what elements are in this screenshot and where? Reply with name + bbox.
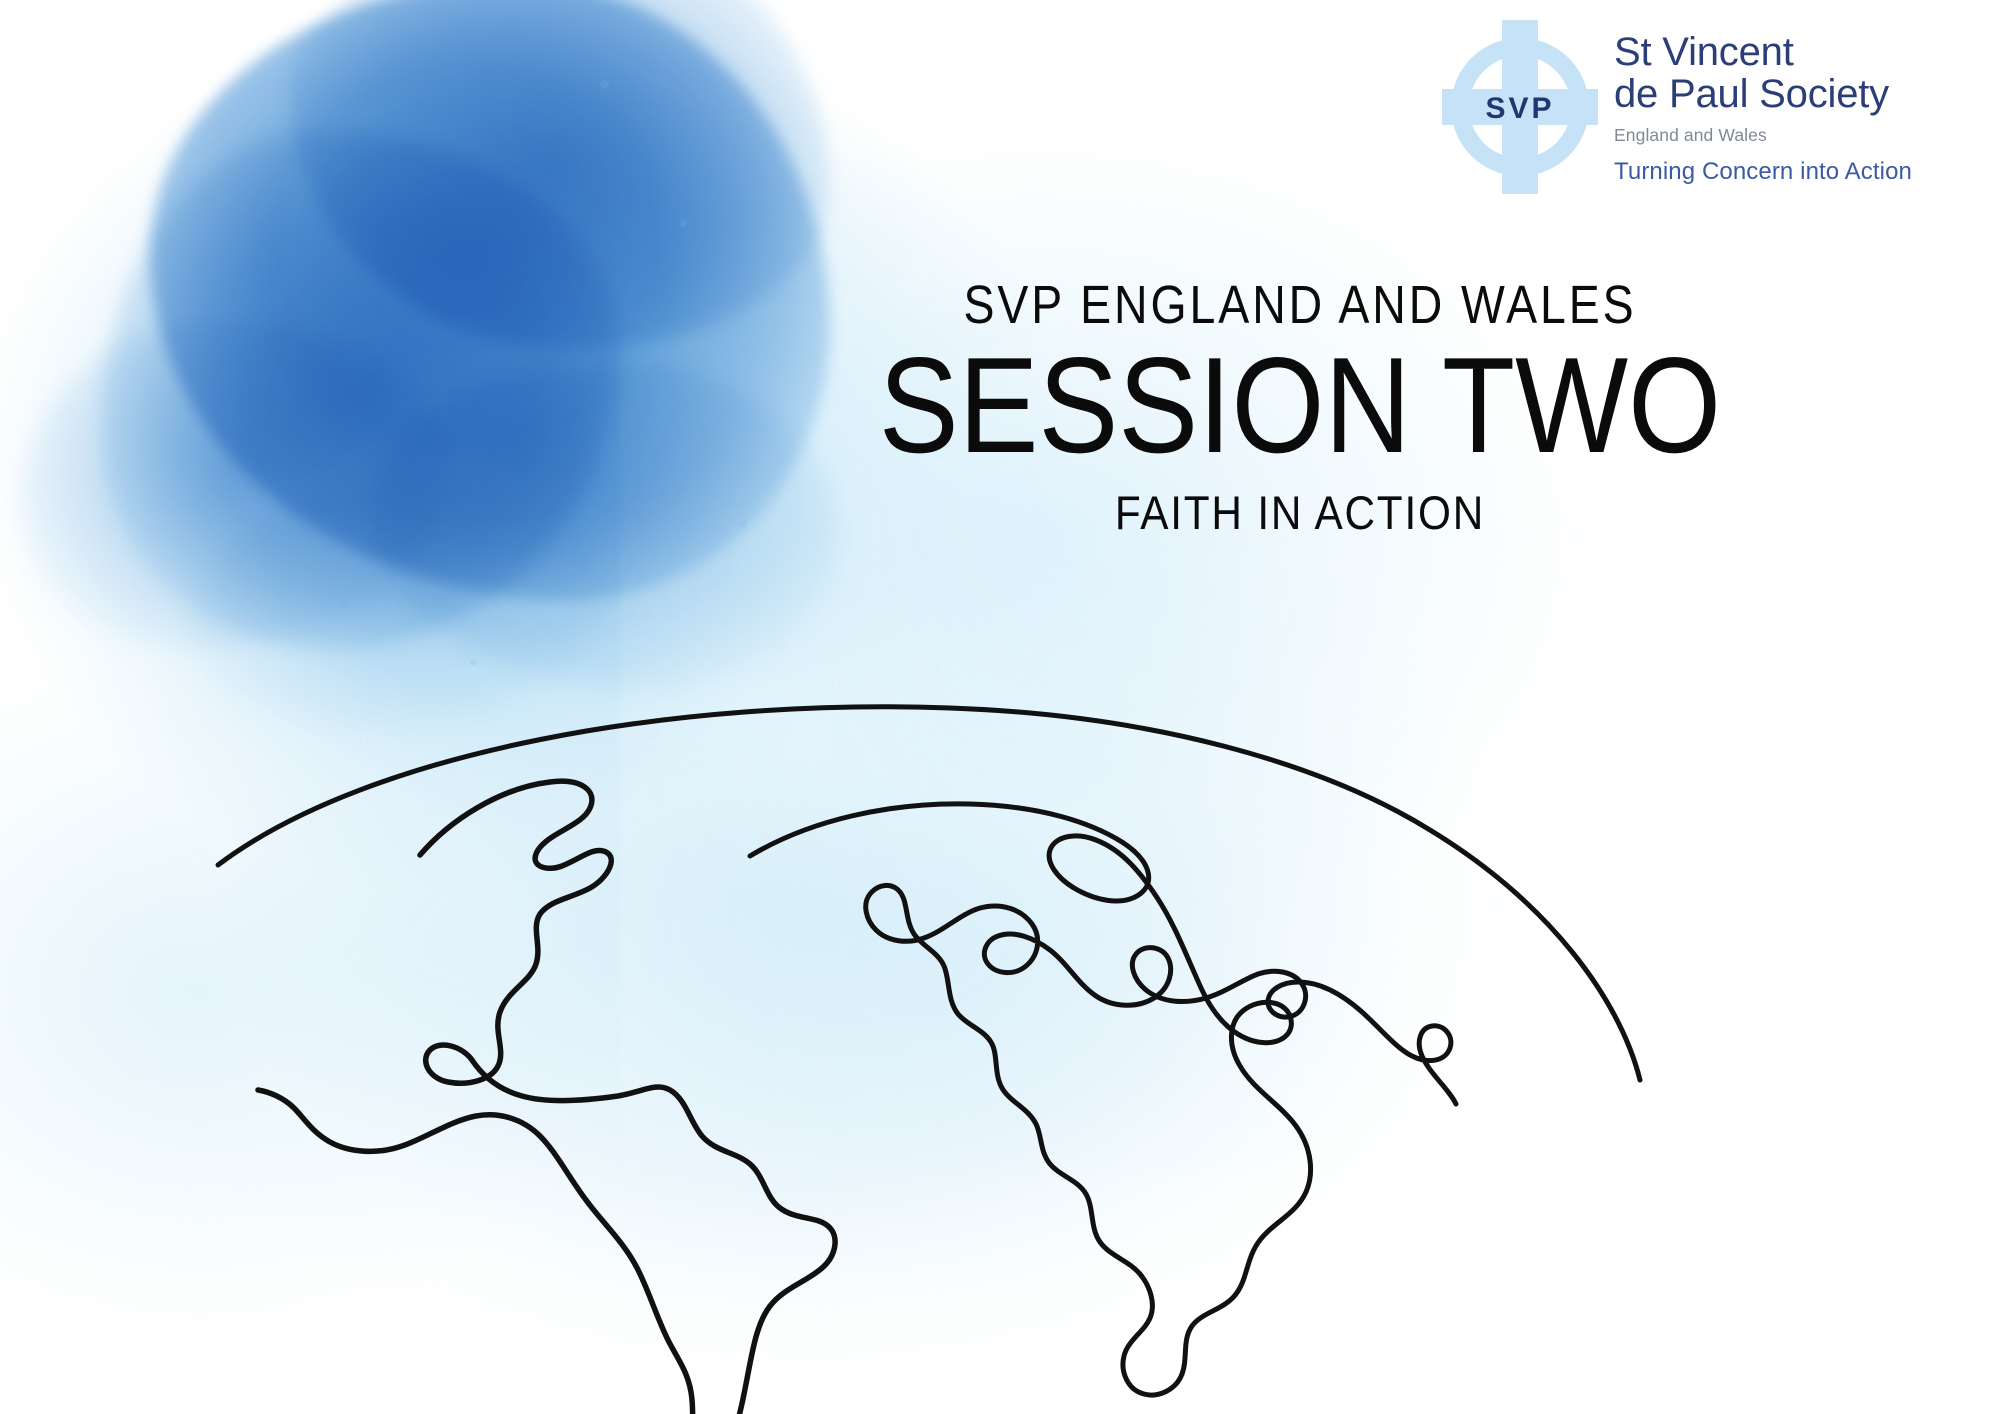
celtic-cross-icon: SVP: [1440, 18, 1600, 196]
single-line-world-globe: [250, 760, 1770, 1414]
splash-speck: [600, 80, 609, 89]
splash-blob-bottom: [190, 480, 610, 730]
logo-organisation-line-1: St Vincent: [1614, 32, 1912, 74]
splash-blob-left: [100, 130, 620, 650]
splash-speck: [470, 660, 476, 666]
logo-region: England and Wales: [1614, 125, 1912, 146]
eyebrow-text: SVP ENGLAND AND WALES: [784, 278, 1816, 332]
page-title: SESSION TWO: [772, 340, 1828, 471]
logo-strapline: Turning Concern into Action: [1614, 158, 1912, 187]
title-block: SVP ENGLAND AND WALES SESSION TWO FAITH …: [700, 278, 1900, 536]
logo-wordmark: St Vincent de Paul Society England and W…: [1614, 18, 1912, 187]
splash-speck: [680, 220, 687, 227]
svg-text:SVP: SVP: [1485, 92, 1554, 125]
logo-organisation-line-2: de Paul Society: [1614, 74, 1912, 116]
splash-blob-lower-left: [20, 320, 450, 650]
globe-landmass-americas: [258, 781, 835, 1414]
title-slide: SVP St Vincent de Paul Society England a…: [0, 0, 2000, 1414]
globe-landmass-eurasia-africa: [750, 804, 1456, 1395]
globe-arc: [218, 707, 1640, 1080]
splash-speck: [340, 600, 348, 608]
svp-logo: SVP St Vincent de Paul Society England a…: [1440, 18, 1980, 208]
subtitle-text: FAITH IN ACTION: [760, 489, 1840, 536]
